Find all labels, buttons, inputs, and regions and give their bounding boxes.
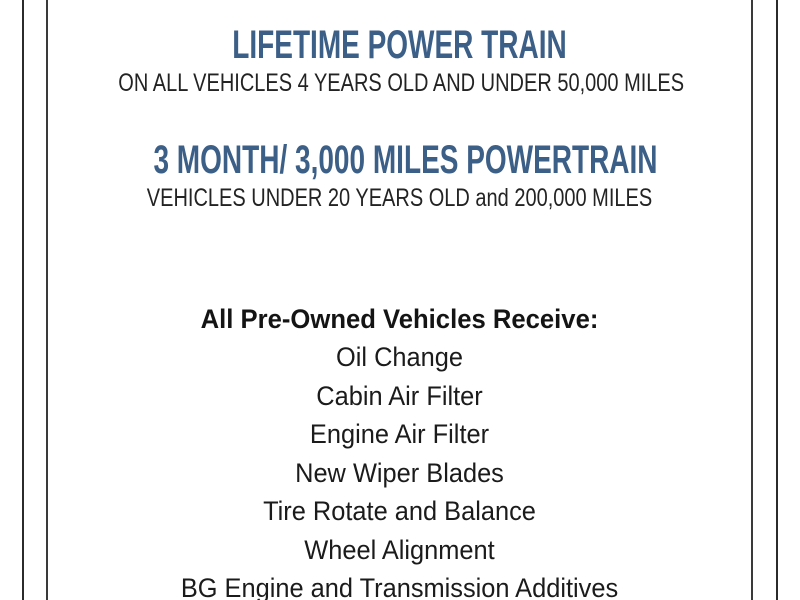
service-list-item: New Wiper Blades bbox=[69, 454, 730, 493]
warranty-subline: VEHICLES UNDER 20 YEARS OLD and 200,000 … bbox=[118, 185, 680, 212]
service-list-item: Oil Change bbox=[69, 338, 730, 377]
border-rule-right-outer bbox=[776, 0, 778, 600]
services-heading: All Pre-Owned Vehicles Receive: bbox=[66, 300, 734, 338]
services-section: All Pre-Owned Vehicles Receive: Oil Chan… bbox=[48, 300, 751, 600]
warranty-flyer: LIFETIME POWER TRAIN ON ALL VEHICLES 4 Y… bbox=[0, 0, 800, 600]
flyer-content: LIFETIME POWER TRAIN ON ALL VEHICLES 4 Y… bbox=[48, 0, 751, 600]
border-rule-right-inner bbox=[751, 0, 753, 600]
border-rule-left-outer bbox=[22, 0, 24, 600]
services-list: Oil ChangeCabin Air FilterEngine Air Fil… bbox=[48, 338, 751, 600]
service-list-item: Tire Rotate and Balance bbox=[69, 492, 730, 531]
service-list-item: Cabin Air Filter bbox=[69, 377, 730, 416]
service-list-item: BG Engine and Transmission Additives bbox=[69, 569, 730, 600]
warranty-headline: 3 MONTH/ 3,000 MILES POWERTRAIN bbox=[153, 139, 645, 181]
service-list-item: Engine Air Filter bbox=[69, 415, 730, 454]
warranty-block-lifetime: LIFETIME POWER TRAIN ON ALL VEHICLES 4 Y… bbox=[48, 24, 751, 97]
warranty-subline: ON ALL VEHICLES 4 YEARS OLD AND UNDER 50… bbox=[118, 70, 680, 97]
service-list-item: Wheel Alignment bbox=[69, 531, 730, 570]
warranty-block-three-month: 3 MONTH/ 3,000 MILES POWERTRAIN VEHICLES… bbox=[48, 139, 751, 212]
warranty-headline: LIFETIME POWER TRAIN bbox=[153, 24, 645, 66]
